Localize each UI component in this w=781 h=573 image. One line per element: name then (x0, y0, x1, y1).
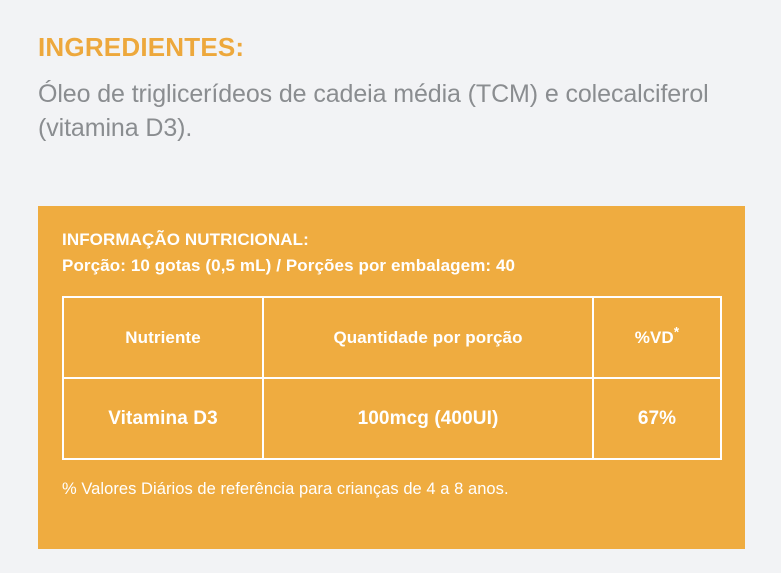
footnote-marker-asterisk: * (674, 324, 679, 339)
page-title: INGREDIENTES: (38, 33, 738, 63)
column-header-daily-value-label: %VD (635, 328, 674, 347)
ingredients-section: INGREDIENTES: Óleo de triglicerídeos de … (38, 33, 738, 145)
nutrition-information-panel: INFORMAÇÃO NUTRICIONAL: Porção: 10 gotas… (38, 206, 745, 549)
ingredients-text: Óleo de triglicerídeos de cadeia média (… (38, 77, 728, 145)
serving-information: Porção: 10 gotas (0,5 mL) / Porções por … (62, 254, 721, 279)
column-header-daily-value: %VD* (593, 297, 721, 378)
table-header-row: Nutriente Quantidade por porção %VD* (63, 297, 721, 378)
cell-daily-value-percent: 67% (593, 378, 721, 459)
nutrition-panel-heading: INFORMAÇÃO NUTRICIONAL: (62, 228, 721, 253)
cell-amount-per-serving: 100mcg (400UI) (263, 378, 593, 459)
cell-nutrient-name: Vitamina D3 (63, 378, 263, 459)
table-row: Vitamina D3 100mcg (400UI) 67% (63, 378, 721, 459)
nutrition-facts-table: Nutriente Quantidade por porção %VD* Vit… (62, 296, 722, 460)
column-header-nutrient: Nutriente (63, 297, 263, 378)
table-footnote: % Valores Diários de referência para cri… (62, 480, 721, 499)
column-header-amount-per-serving: Quantidade por porção (263, 297, 593, 378)
nutrition-label-page: INGREDIENTES: Óleo de triglicerídeos de … (0, 0, 781, 573)
